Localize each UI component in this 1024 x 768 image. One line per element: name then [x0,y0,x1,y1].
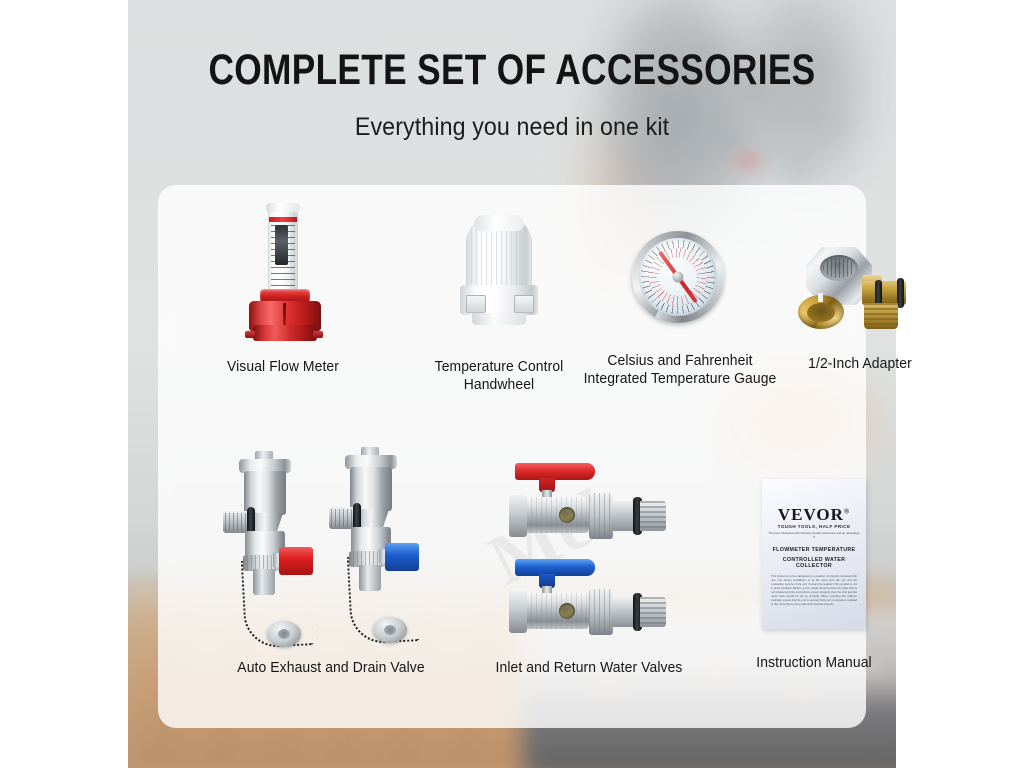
accessory-label: Celsius and Fahrenheit Integrated Temper… [578,352,782,388]
adapter-icon [796,245,924,341]
product-infographic: COMPLETE SET OF ACCESSORIES Everything y… [0,0,1024,768]
temperature-gauge-icon [630,229,730,329]
manual-title-line-1: FLOWMETER TEMPERATURE [766,547,862,553]
accessory-label: Auto Exhaust and Drain Valve [205,659,457,677]
page-title: COMPLETE SET OF ACCESSORIES [197,46,827,95]
accessory-label: Visual Flow Meter [167,358,399,376]
manual-icon: VEVOR® TOUGH TOOLS, HALF PRICE The best.… [762,479,866,629]
manual-brand: VEVOR® [762,505,866,525]
manual-tagline: TOUGH TOOLS, HALF PRICE [762,524,866,529]
drain-valve-icon [329,447,425,647]
accessory-item-instruction-manual: VEVOR® TOUGH TOOLS, HALF PRICE The best.… [706,479,922,672]
background-accent-blur [728,148,768,174]
accessory-item-temperature-control-handwheel: Temperature Control Handwheel [404,215,594,394]
accessory-item-half-inch-adapter: 1/2-Inch Adapter [770,245,950,373]
handwheel-icon [444,215,554,327]
accessory-item-integrated-temperature-gauge: Celsius and Fahrenheit Integrated Temper… [574,229,786,388]
accessory-label: Inlet and Return Water Valves [479,659,700,677]
accessories-card: Mel Visual Flow Meter Temperature Contro… [158,185,866,728]
accessory-label: Temperature Control Handwheel [408,358,590,394]
manual-title-line-2: CONTROLLED WATER COLLECTOR [766,557,862,569]
manual-tagline-sub: The best. Designed with Ordinary Quality… [768,531,860,539]
accessory-label: Instruction Manual [710,654,917,672]
page-subtitle: Everything you need in one kit [155,113,869,142]
auto-exhaust-valve-icon [223,451,319,651]
manual-body-text: This product is to be maintained in a po… [771,575,857,607]
ball-valve-icon-return [509,559,669,645]
accessory-label: 1/2-Inch Adapter [774,355,947,373]
accessory-item-inlet-and-return-water-valves: Inlet and Return Water Valves [474,463,704,677]
accessory-item-auto-exhaust-and-drain-valve: Auto Exhaust and Drain Valve [200,447,462,677]
ball-valve-icon-inlet [509,463,669,549]
accessory-item-visual-flow-meter: Visual Flow Meter [162,203,404,376]
flow-meter-icon [235,203,331,343]
